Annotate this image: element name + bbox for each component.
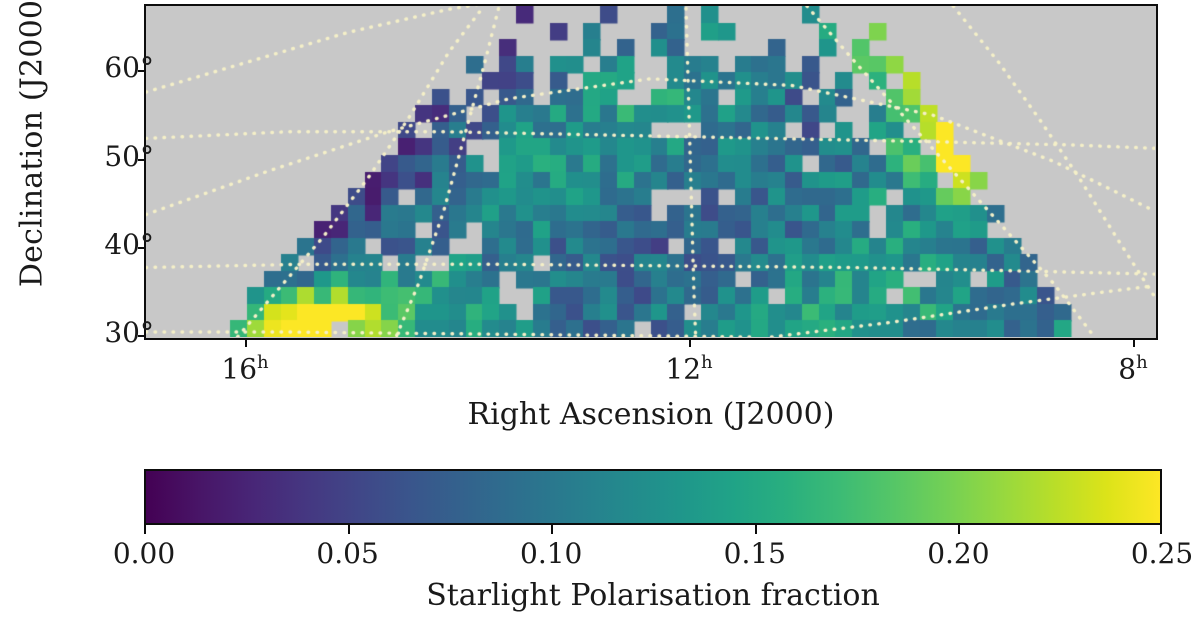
y-tick-mark-30: [138, 335, 145, 337]
x-tick-hour-value: 16: [221, 352, 257, 385]
colorbar-tick-label-0.25: 0.25: [1087, 537, 1200, 570]
colorbar-label: Starlight Polarisation fraction: [144, 578, 1162, 613]
x-tick-hour-value: 12: [665, 352, 701, 385]
x-tick-hour-unit: h: [1136, 352, 1148, 373]
colorbar-tick-label-0.15: 0.15: [680, 537, 830, 570]
x-tick-hour-value: 8: [1118, 352, 1136, 385]
colorbar-gradient: [146, 471, 1160, 523]
colorbar-tick-mark-0.25: [1160, 525, 1162, 534]
x-tick-label-12h: 12h: [619, 352, 759, 385]
colorbar-tick-label-0.20: 0.20: [883, 537, 1033, 570]
colorbar-tick-mark-0.15: [755, 525, 757, 534]
colorbar-tick-label-0.05: 0.05: [273, 537, 423, 570]
y-tick-label-30: 30°: [34, 316, 154, 349]
x-tick-mark-12h: [689, 340, 691, 347]
colorbar-tick-mark-0.05: [348, 525, 350, 534]
colorbar-tick-mark-0.00: [144, 525, 146, 534]
galactic-gridlines-canvas: [146, 6, 1155, 337]
x-tick-mark-16h: [245, 340, 247, 347]
y-tick-label-40: 40°: [34, 228, 154, 261]
sky-map-plot-area: [144, 4, 1158, 340]
sky-map-figure: Declination (J2000) 60°50°40°30° 16h12h8…: [0, 0, 1200, 634]
x-tick-hour-unit: h: [701, 352, 713, 373]
x-tick-label-16h: 16h: [175, 352, 315, 385]
x-tick-mark-8h: [1133, 340, 1135, 347]
x-axis-label: Right Ascension (J2000): [144, 397, 1158, 432]
y-tick-mark-60: [138, 70, 145, 72]
colorbar-tick-label-0.10: 0.10: [476, 537, 626, 570]
x-tick-label-8h: 8h: [1063, 352, 1200, 385]
y-tick-label-60: 60°: [34, 51, 154, 84]
colorbar-tick-mark-0.20: [958, 525, 960, 534]
y-tick-label-50: 50°: [34, 140, 154, 173]
y-tick-mark-50: [138, 159, 145, 161]
x-tick-hour-unit: h: [257, 352, 269, 373]
y-tick-mark-40: [138, 247, 145, 249]
colorbar: [144, 469, 1162, 525]
colorbar-tick-label-0.00: 0.00: [69, 537, 219, 570]
colorbar-tick-mark-0.10: [551, 525, 553, 534]
